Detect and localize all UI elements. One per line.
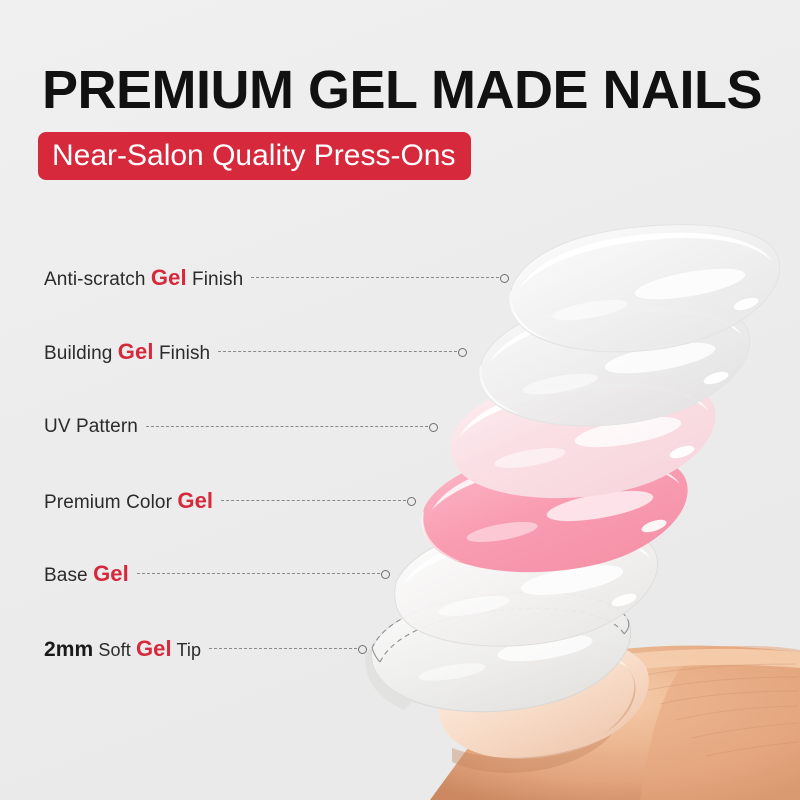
callout-soft-gel-tip: 2mm Soft Gel Tip (44, 634, 357, 664)
callout-leader-line (221, 500, 406, 502)
callout-label-part: Tip (172, 640, 201, 660)
fingertip-photo (430, 637, 800, 800)
callout-label: Base Gel (44, 561, 129, 587)
callout-label-part: Gel (177, 488, 213, 513)
callout-leader-line (251, 277, 499, 279)
callout-label-part: Gel (151, 265, 187, 290)
callout-label-part: Base (44, 565, 93, 586)
callout-label-part: Gel (136, 636, 172, 661)
callout-anti-scratch-gel-finish: Anti-scratch Gel Finish (44, 263, 499, 293)
premium-color-gel-layer (421, 449, 687, 573)
page-title: PREMIUM GEL MADE NAILS (42, 62, 762, 118)
callout-leader-endpoint (381, 570, 390, 579)
callout-label-part: Finish (154, 343, 211, 364)
callout-leader-line (209, 648, 357, 650)
building-gel-finish-layer (479, 299, 749, 426)
callout-label: Building Gel Finish (44, 339, 210, 365)
callout-label-part: Finish (187, 269, 244, 290)
callout-leader-line (218, 351, 457, 353)
subtitle-badge-label: Near-Salon Quality Press-Ons (52, 141, 455, 171)
callout-leader-endpoint (458, 348, 467, 357)
anti-scratch-gel-finish-layer (509, 225, 779, 352)
callout-label: UV Pattern (44, 416, 138, 438)
base-gel-layer (395, 523, 658, 647)
soft-gel-tip-layer (365, 592, 631, 711)
callout-leader-endpoint (407, 497, 416, 506)
nail-layer-stack-illustration (0, 0, 800, 800)
callout-label-part: Premium Color (44, 492, 177, 513)
callout-leader-line (137, 573, 380, 575)
callout-leader-endpoint (500, 274, 509, 283)
callout-leader-line (146, 426, 428, 428)
callout-uv-pattern: UV Pattern (44, 412, 428, 442)
product-infographic: PREMIUM GEL MADE NAILS Near-Salon Qualit… (0, 0, 800, 800)
callout-premium-color-gel: Premium Color Gel (44, 486, 406, 516)
callout-label-part: 2mm (44, 638, 93, 661)
callout-building-gel-finish: Building Gel Finish (44, 337, 457, 367)
callout-label-part: UV Pattern (44, 416, 138, 437)
callout-leader-endpoint (429, 423, 438, 432)
callout-label-part: Gel (93, 561, 129, 586)
callout-label: Premium Color Gel (44, 488, 213, 514)
callout-label-part: Building (44, 343, 118, 364)
callout-label-part: Soft (93, 640, 136, 660)
callout-label: Anti-scratch Gel Finish (44, 265, 243, 291)
callout-label: 2mm Soft Gel Tip (44, 636, 201, 662)
callout-label-part: Gel (118, 339, 154, 364)
subtitle-badge: Near-Salon Quality Press-Ons (38, 132, 471, 180)
callout-base-gel: Base Gel (44, 559, 380, 589)
callout-leader-endpoint (358, 645, 367, 654)
callout-label-part: Anti-scratch (44, 269, 151, 290)
uv-pattern-layer (451, 375, 716, 499)
